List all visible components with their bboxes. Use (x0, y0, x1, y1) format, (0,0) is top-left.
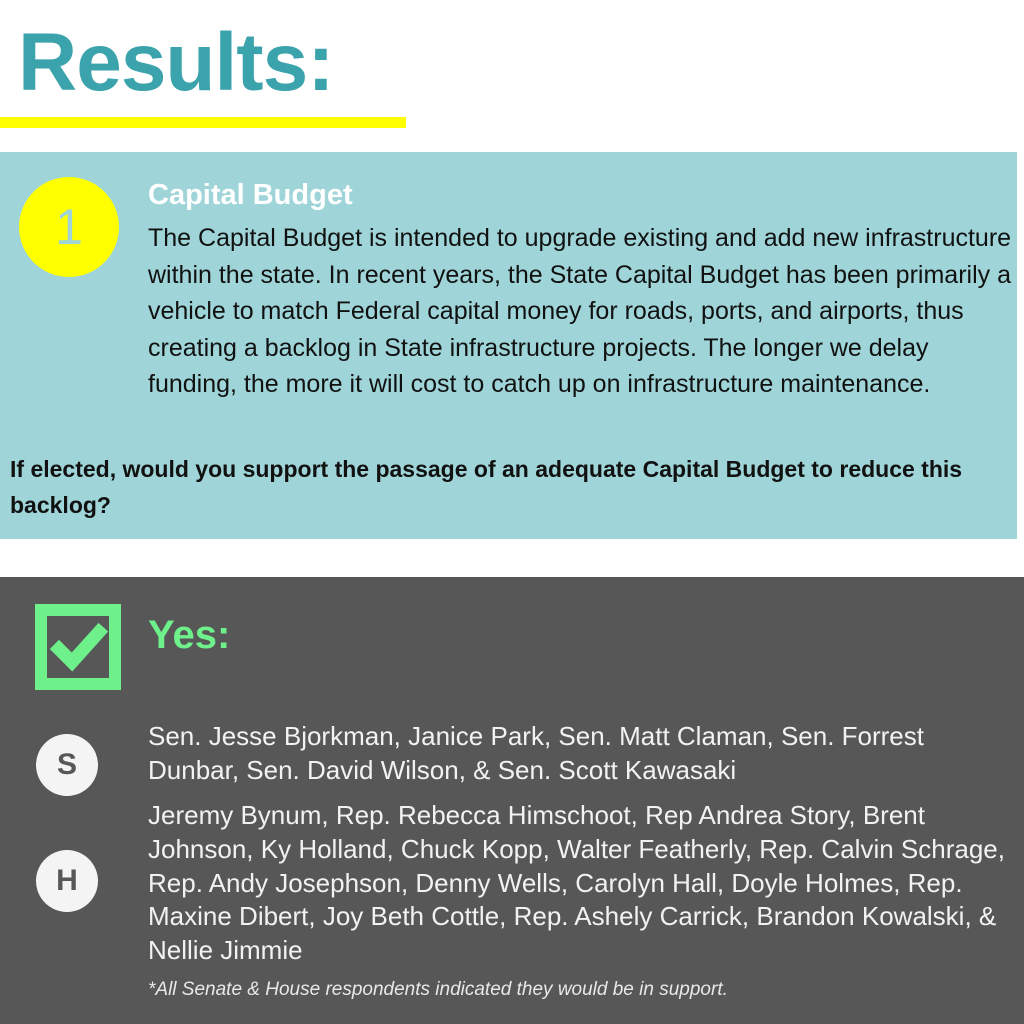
answer-header: Yes: (0, 577, 1024, 697)
topic-description: The Capital Budget is intended to upgrad… (148, 220, 1014, 403)
question-number-badge: 1 (19, 177, 119, 277)
title-underline-accent (0, 117, 406, 128)
house-badge: H (36, 850, 98, 912)
checked-box-icon (35, 604, 121, 690)
question-number-label: 1 (19, 177, 119, 277)
question-card: 1 Capital Budget The Capital Budget is i… (0, 152, 1017, 539)
survey-question: If elected, would you support the passag… (10, 452, 1014, 523)
senate-respondent-names: Sen. Jesse Bjorkman, Janice Park, Sen. M… (148, 720, 1014, 788)
footnote: *All Senate & House respondents indicate… (148, 978, 1014, 1003)
senate-badge-label: S (36, 734, 98, 796)
answers-card: Yes: S Sen. Jesse Bjorkman, Janice Park,… (0, 577, 1024, 1024)
page-header: Results: (0, 0, 1024, 150)
topic-title: Capital Budget (148, 180, 353, 212)
answer-yes-label: Yes: (148, 615, 230, 655)
page-title: Results: (18, 22, 334, 104)
house-respondent-names: Jeremy Bynum, Rep. Rebecca Himschoot, Re… (148, 799, 1014, 968)
senate-badge: S (36, 734, 98, 796)
house-badge-label: H (36, 850, 98, 912)
